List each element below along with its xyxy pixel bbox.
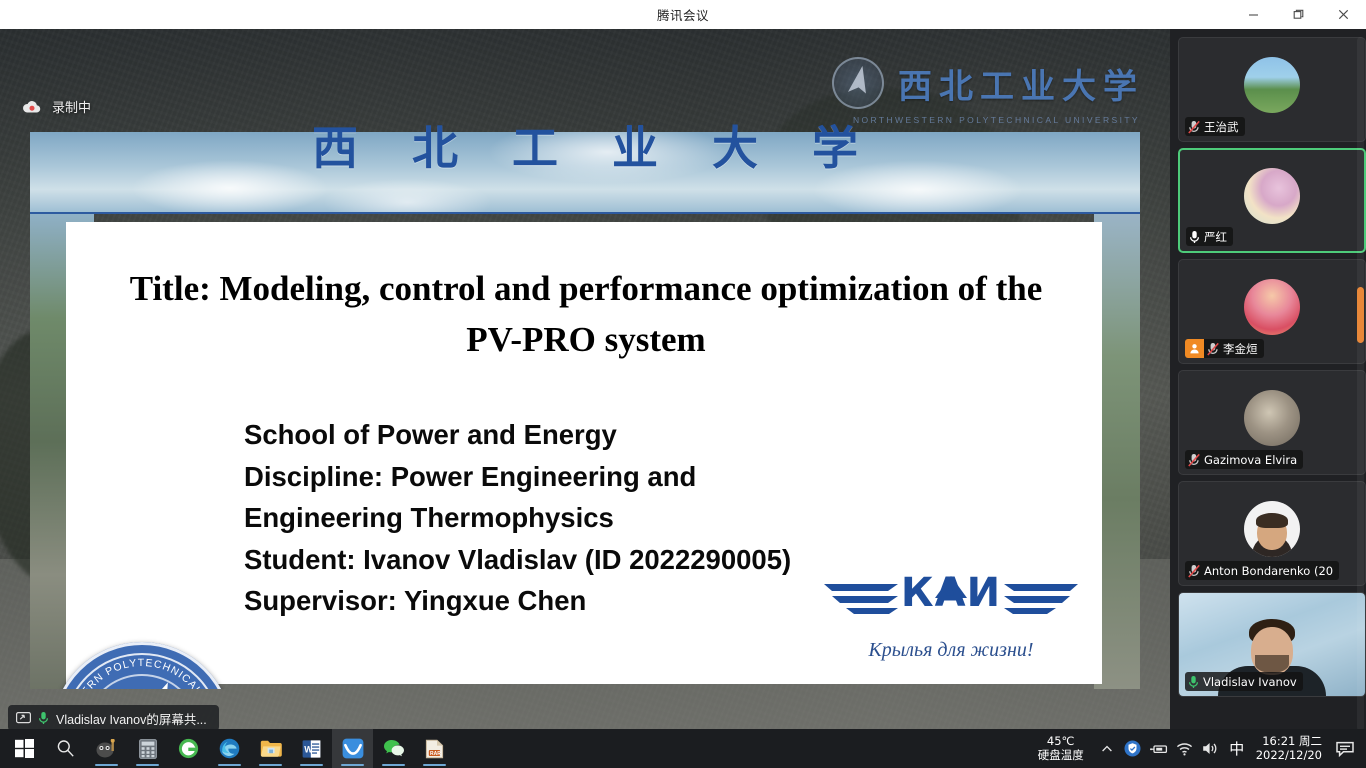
- participant-tile[interactable]: 李金烜: [1178, 259, 1366, 364]
- banner-char: 工: [512, 112, 558, 178]
- slide-title: Title: Modeling, control and performance…: [126, 264, 1046, 366]
- disk-temperature-widget[interactable]: 45℃ 硬盘温度: [1038, 735, 1084, 761]
- security-shield-icon: [1124, 740, 1141, 757]
- participant-tile-active-speaker[interactable]: 严红: [1178, 148, 1366, 253]
- tray-network-button[interactable]: [1172, 729, 1198, 768]
- microphone-icon: [38, 711, 49, 725]
- svg-text:W: W: [304, 744, 313, 754]
- maximize-button[interactable]: [1276, 0, 1321, 29]
- nwpu-seal: NORTHWESTERN POLYTECHNICAL UNIVERSITY 19…: [52, 642, 232, 689]
- participant-name: 严红: [1204, 229, 1227, 245]
- kai-logo-text: КАИ: [822, 570, 1080, 616]
- kai-logo: КАИ Крылья для жизни!: [822, 566, 1080, 662]
- participant-nametag: 王治武: [1185, 117, 1245, 136]
- participant-name: 王治武: [1204, 119, 1239, 135]
- folder-icon: [260, 739, 282, 758]
- participant-name: Gazimova Elvira: [1204, 453, 1297, 467]
- participant-nametag: 严红: [1186, 227, 1233, 246]
- taskbar-app-list: W RAR: [0, 729, 455, 768]
- windows-taskbar: W RAR 45℃: [0, 729, 1366, 768]
- taskbar-app-microsoft-edge[interactable]: [209, 729, 250, 768]
- usb-device-icon: [1150, 742, 1168, 756]
- participant-nametag: Gazimova Elvira: [1185, 450, 1303, 469]
- participant-name: 李金烜: [1223, 341, 1258, 357]
- shared-screen-area[interactable]: 西北工业大学 NORTHWESTERN POLYTECHNICAL UNIVER…: [0, 29, 1170, 739]
- microphone-icon: [1188, 675, 1199, 689]
- banner-char: 学: [812, 112, 858, 178]
- screen-share-label: Vladislav Ivanov的屏幕共...: [8, 705, 219, 731]
- taskbar-app-file-explorer[interactable]: [250, 729, 291, 768]
- avatar: [1244, 390, 1300, 446]
- system-tray: 45℃ 硬盘温度: [1038, 729, 1366, 768]
- word-icon: W: [302, 739, 321, 759]
- screen-share-icon: [16, 712, 31, 725]
- kai-logo-slogan: Крылья для жизни!: [822, 639, 1080, 662]
- taskbar-app-media-player[interactable]: [86, 729, 127, 768]
- avatar: [1244, 168, 1300, 224]
- taskbar-clock[interactable]: 16:21 周二 2022/12/20: [1250, 735, 1330, 762]
- taskbar-app-wechat[interactable]: [373, 729, 414, 768]
- participant-tile-video[interactable]: Vladislav Ivanov: [1178, 592, 1366, 697]
- banner-char: 业: [612, 112, 658, 178]
- minimize-icon: [1248, 9, 1259, 20]
- search-icon: [56, 739, 75, 758]
- taskbar-app-calculator[interactable]: [127, 729, 168, 768]
- window-controls: [1231, 0, 1366, 29]
- avatar: [1244, 279, 1300, 335]
- participant-scrollbar-thumb[interactable]: [1357, 287, 1364, 343]
- banner-char: 西: [312, 112, 358, 178]
- tray-usb-button[interactable]: [1146, 729, 1172, 768]
- microphone-muted-icon: [1188, 120, 1200, 134]
- restore-icon: [1293, 9, 1304, 20]
- tray-volume-button[interactable]: [1198, 729, 1224, 768]
- host-person-icon: [1189, 343, 1200, 354]
- window-title: 腾讯会议: [657, 5, 709, 24]
- meeting-window: 西北工业大学 NORTHWESTERN POLYTECHNICAL UNIVER…: [0, 29, 1366, 739]
- calculator-icon: [139, 739, 157, 759]
- notification-icon: [1336, 741, 1354, 757]
- close-icon: [1338, 9, 1349, 20]
- tray-overflow-button[interactable]: [1094, 729, 1120, 768]
- participant-nametag: Anton Bondarenko (20: [1185, 561, 1339, 580]
- taskbar-start-button[interactable]: [4, 729, 45, 768]
- screen-share-label-text: Vladislav Ivanov的屏幕共...: [56, 709, 207, 728]
- participant-nametag: Vladislav Ivanov: [1185, 672, 1303, 691]
- svg-text:RAR: RAR: [430, 750, 441, 756]
- banner-char: 大: [712, 112, 758, 178]
- banner-char: 北: [412, 112, 458, 178]
- slide-banner-text: 西 北 工 业 大 学: [30, 104, 1140, 186]
- presentation-slide: 西 北 工 业 大 学 Title: Modeling, control and…: [30, 104, 1140, 689]
- microphone-icon: [1189, 230, 1200, 244]
- taskbar-search-button[interactable]: [45, 729, 86, 768]
- microphone-muted-icon: [1207, 342, 1219, 356]
- nwpu-seal-icon: [832, 57, 884, 109]
- seal-english-label: NORTHWESTERN POLYTECHNICAL UNIVERSITY: [52, 642, 217, 689]
- wallpaper-brand-chinese: 西北工业大学: [898, 59, 1144, 108]
- svg-text:NORTHWESTERN POLYTECHNICAL UNI: NORTHWESTERN POLYTECHNICAL UNIVERSITY: [52, 642, 217, 689]
- speaker-icon: [1202, 741, 1219, 756]
- close-button[interactable]: [1321, 0, 1366, 29]
- disk-temperature-label: 硬盘温度: [1038, 749, 1084, 762]
- participant-strip[interactable]: 王治武 严红: [1170, 29, 1366, 739]
- taskbar-app-tencent-meeting[interactable]: [332, 729, 373, 768]
- participant-tile[interactable]: 王治武: [1178, 37, 1366, 142]
- action-center-button[interactable]: [1330, 729, 1360, 768]
- window-titlebar: 腾讯会议: [0, 0, 1366, 29]
- edge-icon: [219, 738, 240, 759]
- participant-name: Anton Bondarenko (20: [1204, 564, 1333, 578]
- green-browser-icon: [178, 738, 199, 759]
- avatar: [1244, 501, 1300, 557]
- participant-name: Vladislav Ivanov: [1203, 675, 1297, 689]
- wechat-icon: [383, 739, 405, 758]
- wallpaper-university-mark: 西北工业大学: [832, 57, 1144, 109]
- participant-tile[interactable]: Gazimova Elvira: [1178, 370, 1366, 475]
- media-player-icon: [96, 739, 118, 759]
- participant-nametag: 李金烜: [1204, 339, 1264, 358]
- taskbar-app-winrar[interactable]: RAR: [414, 729, 455, 768]
- chevron-up-icon: [1101, 743, 1113, 755]
- host-badge: [1185, 339, 1204, 358]
- windows-logo-icon: [15, 739, 34, 758]
- taskbar-app-browser-360[interactable]: [168, 729, 209, 768]
- minimize-button[interactable]: [1231, 0, 1276, 29]
- avatar: [1244, 57, 1300, 113]
- ime-indicator[interactable]: 中: [1224, 729, 1250, 768]
- participant-tile[interactable]: Anton Bondarenko (20: [1178, 481, 1366, 586]
- microphone-muted-icon: [1188, 453, 1200, 467]
- seal-english-text: NORTHWESTERN POLYTECHNICAL UNIVERSITY: [52, 642, 232, 689]
- taskbar-app-microsoft-word[interactable]: W: [291, 729, 332, 768]
- microphone-muted-icon: [1188, 564, 1200, 578]
- tencent-meeting-icon: [342, 738, 364, 759]
- tray-security-button[interactable]: [1120, 729, 1146, 768]
- disk-temperature-value: 45℃: [1047, 735, 1075, 748]
- slide-content-card: Title: Modeling, control and performance…: [66, 222, 1102, 684]
- participant-scrollbar-track[interactable]: [1357, 37, 1364, 731]
- video-person-beard: [1255, 655, 1289, 673]
- winrar-icon: RAR: [425, 739, 444, 759]
- clock-date: 2022/12/20: [1256, 749, 1322, 763]
- wifi-icon: [1176, 742, 1193, 756]
- clock-time: 16:21 周二: [1262, 735, 1322, 749]
